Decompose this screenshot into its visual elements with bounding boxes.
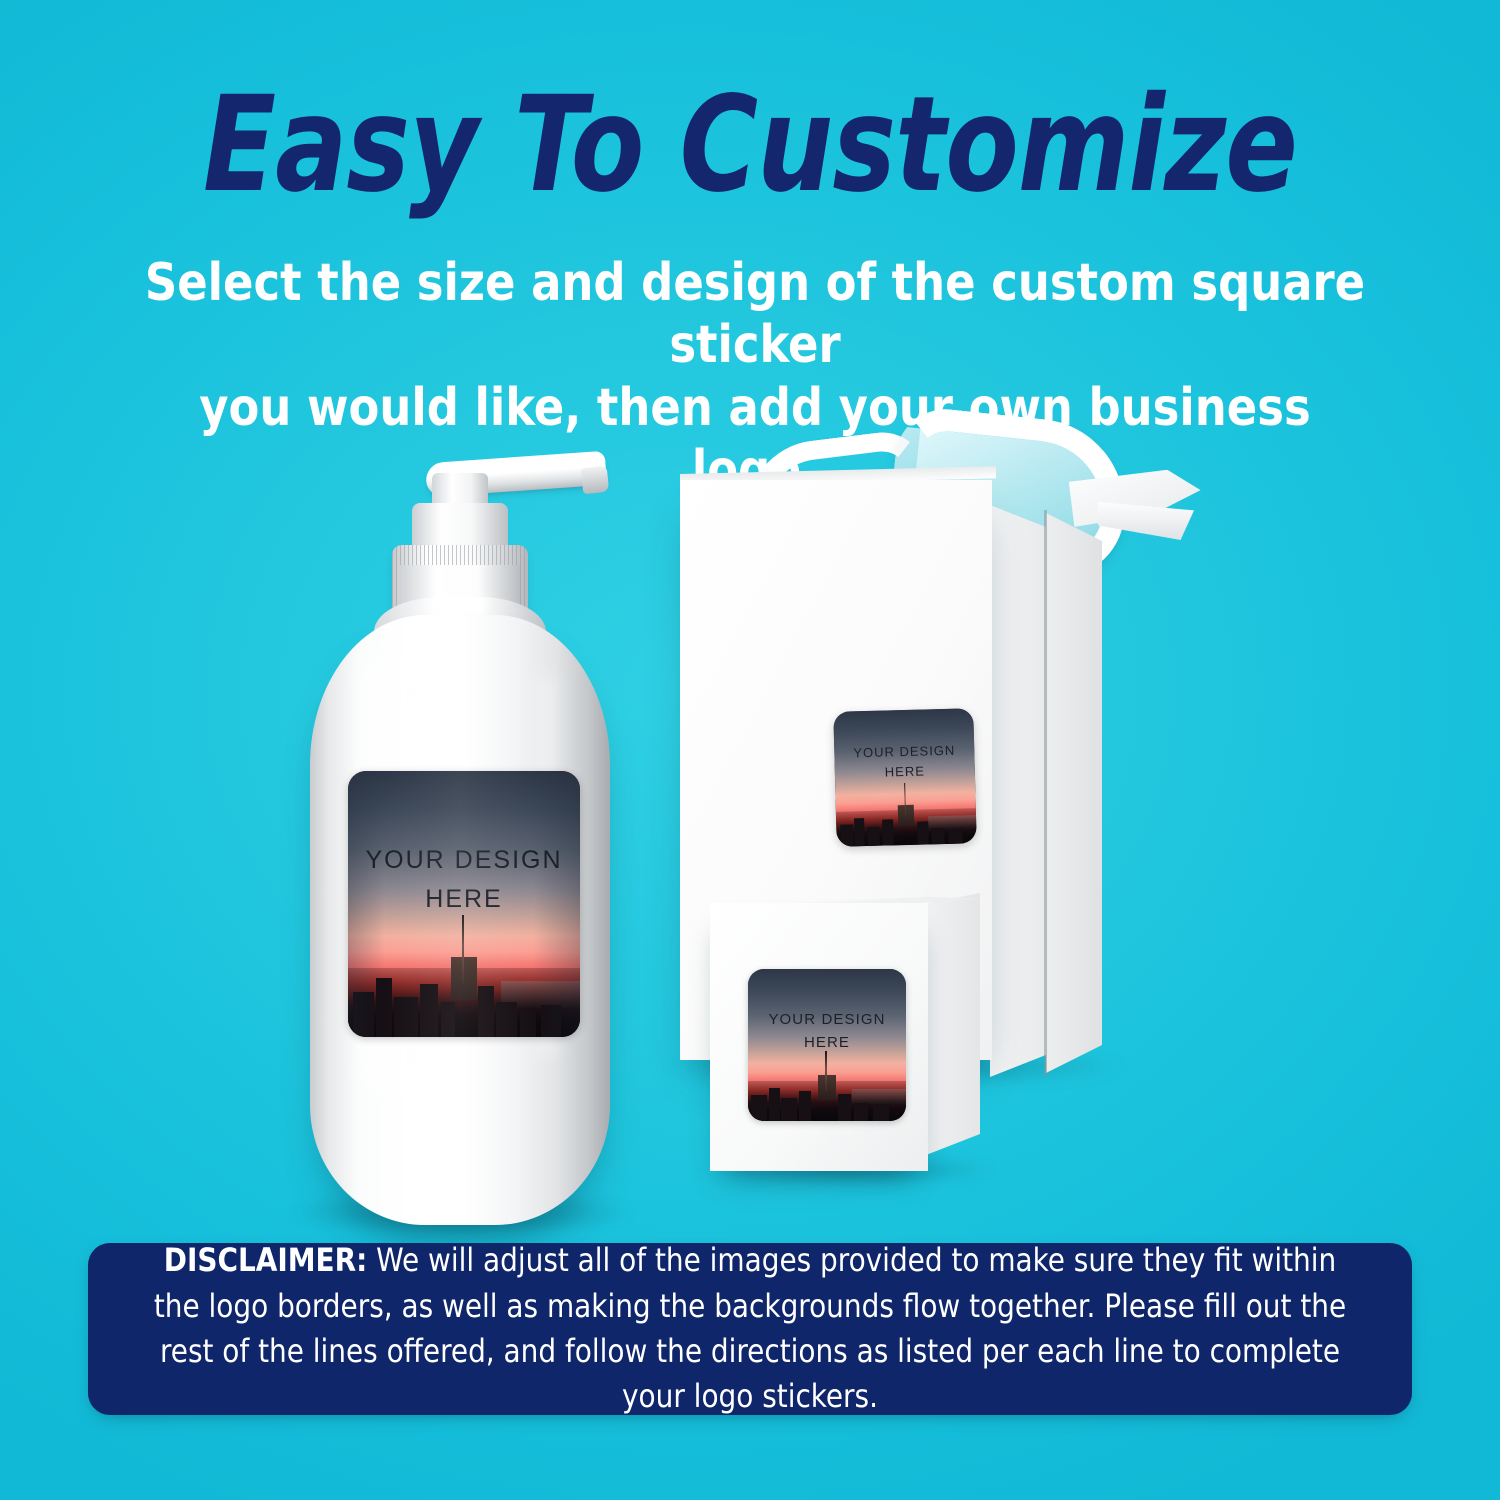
sticker-building: [873, 1104, 889, 1121]
disclaimer-label: DISCLAIMER:: [164, 1241, 368, 1279]
sticker-label-smallbox[interactable]: YOUR DESIGN HERE: [748, 969, 906, 1121]
sticker-text-line-1: YOUR DESIGN: [834, 740, 974, 763]
sticker-label-bottle[interactable]: YOUR DESIGN HERE: [348, 771, 580, 1037]
page-title: Easy To Customize: [75, 78, 1425, 213]
sticker-building: [882, 820, 894, 846]
sticker-building: [917, 821, 929, 844]
sticker-building: [769, 1088, 780, 1121]
disclaimer-banner: DISCLAIMER: We will adjust all of the im…: [88, 1243, 1412, 1415]
sticker-building: [781, 1098, 797, 1121]
sticker-text-line-1: YOUR DESIGN: [748, 1009, 906, 1032]
sticker-building: [520, 1010, 536, 1037]
sticker-text-block: YOUR DESIGN HERE: [748, 1009, 906, 1054]
sticker-spire: [825, 1051, 827, 1091]
sticker-text-line-2: HERE: [748, 1032, 906, 1055]
sticker-building: [496, 1002, 517, 1037]
sticker-building: [376, 978, 392, 1037]
sticker-building: [840, 825, 853, 847]
sticker-building: [948, 829, 962, 844]
smallbox-side-panel: [926, 893, 980, 1155]
sticker-building: [394, 997, 417, 1037]
sticker-building: [478, 986, 494, 1037]
promo-banner: Easy To Customize Select the size and de…: [0, 0, 1500, 1500]
sticker-building: [799, 1091, 812, 1121]
sticker-text-block: YOUR DESIGN HERE: [348, 841, 580, 919]
giftbox-side-panel-far: [1046, 513, 1102, 1073]
sticker-building: [420, 984, 439, 1037]
sticker-building: [751, 1095, 767, 1121]
sticker-building: [353, 992, 374, 1037]
sticker-building: [854, 1103, 868, 1121]
sticker-text-block: YOUR DESIGN HERE: [834, 740, 975, 783]
sticker-text-line-2: HERE: [348, 880, 580, 919]
sticker-building: [932, 828, 945, 845]
pump-nozzle-tip: [581, 466, 610, 495]
sticker-spire: [462, 915, 465, 984]
disclaimer-text: DISCLAIMER: We will adjust all of the im…: [144, 1238, 1357, 1420]
sticker-building: [541, 1005, 562, 1037]
giftbox-lid-seam: [1044, 510, 1047, 1076]
sticker-text-line-2: HERE: [835, 760, 975, 783]
sticker-text-line-1: YOUR DESIGN: [348, 841, 580, 880]
sticker-label-giftbox[interactable]: YOUR DESIGN HERE: [833, 708, 976, 847]
sticker-building: [838, 1094, 851, 1121]
sticker-building: [854, 818, 865, 847]
product-pump-bottle: YOUR DESIGN HERE: [296, 445, 626, 1225]
product-small-box: YOUR DESIGN HERE: [710, 893, 1000, 1178]
sticker-building: [441, 1002, 455, 1037]
sticker-building: [867, 827, 880, 846]
subtitle-line-1: Select the size and design of the custom…: [145, 253, 1365, 375]
